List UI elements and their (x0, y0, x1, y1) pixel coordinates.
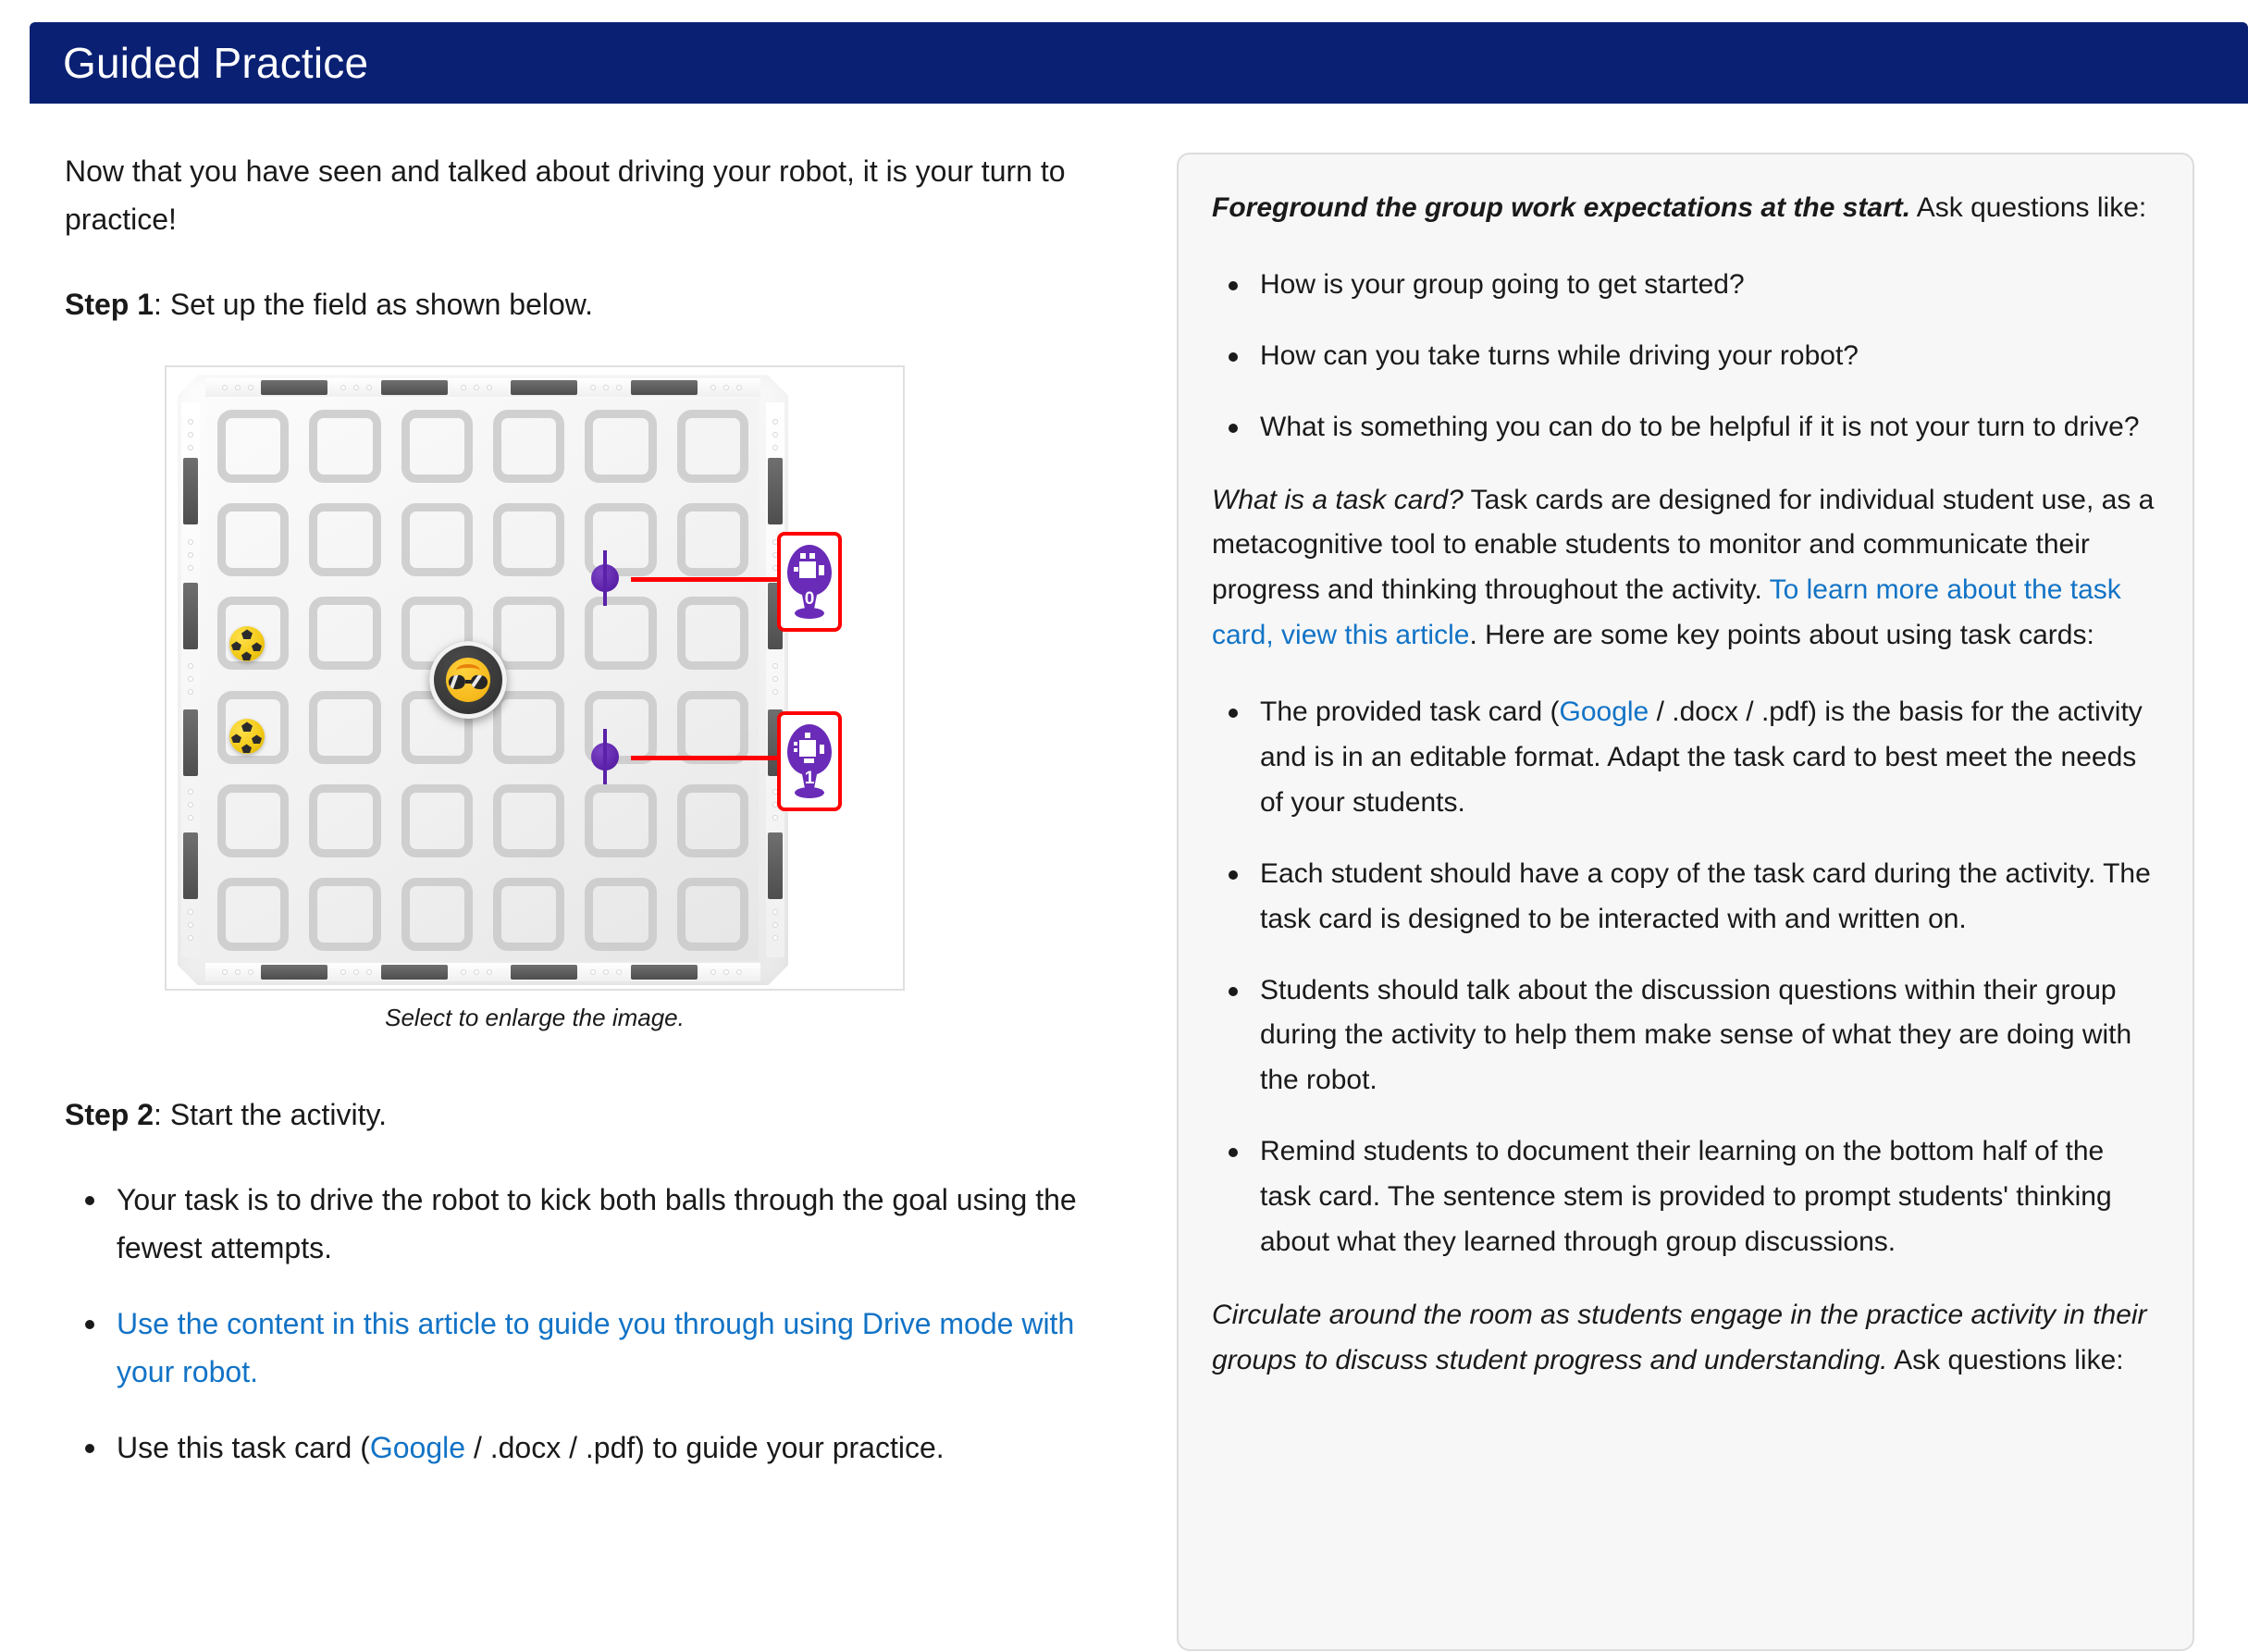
wall-hole (461, 969, 466, 975)
task-card-key-points-list: The provided task card (Google / .docx /… (1212, 690, 2155, 1265)
wall-segment (381, 380, 448, 395)
provided-task-card-google-link[interactable]: Google (1559, 697, 1649, 727)
list-item: What is something you can do to be helpf… (1260, 405, 2155, 450)
wall-hole (772, 445, 778, 450)
group-work-question-list: How is your group going to get started? … (1212, 263, 2155, 450)
wall-hole (710, 385, 716, 390)
wall-hole (188, 909, 193, 915)
wall-hole (188, 676, 193, 682)
field-tile (483, 399, 574, 492)
field-image-frame[interactable]: 0 (165, 365, 905, 991)
wall-hole (710, 969, 716, 975)
field-tile (299, 586, 390, 680)
field-tile (483, 868, 574, 961)
list-item: How can you take turns while driving you… (1260, 334, 2155, 379)
wall-hole (723, 969, 729, 975)
group-work-lead-rest: Ask questions like: (1910, 192, 2146, 223)
question-text: What is something you can do to be helpf… (1260, 412, 2140, 442)
goal-marker-1-label: 1 (785, 769, 834, 789)
step-2-label: Step 2 (65, 1098, 154, 1131)
wall-segment (261, 965, 327, 980)
wall-hole (188, 935, 193, 941)
group-work-lead-emphasis: Foreground the group work expectations a… (1212, 192, 1910, 223)
field-tile (667, 493, 759, 586)
intro-paragraph: Now that you have seen and talked about … (65, 148, 1119, 244)
list-item: Your task is to drive the robot to kick … (117, 1177, 1119, 1273)
list-item: Each student should have a copy of the t… (1260, 852, 2155, 943)
field-tile (574, 493, 666, 586)
wall-hole (353, 969, 359, 975)
list-item: Use the content in this article to guide… (117, 1301, 1119, 1397)
wall-hole (188, 552, 193, 558)
wall-hole (616, 385, 622, 390)
drive-mode-article-link[interactable]: Use the content in this article to guide… (117, 1307, 1074, 1388)
wall-hole (772, 815, 778, 820)
field-tile (299, 868, 390, 961)
task-card-question-emphasis: What is a task card? (1212, 485, 1464, 515)
wall-hole (772, 909, 778, 915)
wall-segment (183, 458, 198, 524)
wall-segment (511, 380, 577, 395)
goal-marker-1-callout: 1 (777, 711, 842, 811)
wall-hole (772, 676, 778, 682)
field-tile (574, 586, 666, 680)
wall-hole (736, 969, 742, 975)
bullet-text-pre: Use this task card ( (117, 1431, 370, 1464)
task-card-explainer-part2: . Here are some key points about using t… (1469, 620, 2094, 650)
callout-line-0 (631, 577, 779, 582)
field-figure: 0 (165, 365, 1119, 1032)
field-wall-left (181, 402, 200, 957)
callout-line-1 (631, 756, 779, 760)
figure-caption: Select to enlarge the image. (165, 1004, 905, 1032)
bullet-text: Your task is to drive the robot to kick … (117, 1183, 1077, 1264)
circulate-closing-paragraph: Circulate around the room as students en… (1212, 1293, 2155, 1384)
wall-segment (768, 458, 783, 524)
goal-marker-0-callout: 0 (777, 532, 842, 632)
step-2-text: : Start the activity. (154, 1098, 387, 1131)
apriltag-1-glyph (794, 733, 825, 762)
list-item: Students should talk about the discussio… (1260, 968, 2155, 1104)
teacher-tips-card: Foreground the group work expectations a… (1177, 153, 2194, 1651)
wall-hole (474, 385, 479, 390)
vex-field-diagram (178, 375, 788, 985)
question-text: How can you take turns while driving you… (1260, 340, 1859, 371)
apriltag-0-glyph (794, 553, 825, 583)
field-tile (667, 868, 759, 961)
field-tile (667, 399, 759, 492)
key-point-text-pre: The provided task card ( (1260, 697, 1559, 727)
field-tile (207, 868, 299, 961)
wall-segment (183, 832, 198, 899)
question-text: How is your group going to get started? (1260, 269, 1745, 300)
field-tile (391, 868, 483, 961)
field-tile (667, 774, 759, 868)
wall-hole (772, 935, 778, 941)
step-2-bullet-list: Your task is to drive the robot to kick … (65, 1177, 1119, 1472)
circulate-rest: Ask questions like: (1887, 1345, 2123, 1375)
list-item: Remind students to document their learni… (1260, 1129, 2155, 1265)
wall-hole (248, 385, 253, 390)
goal-pin-0-icon: 0 (785, 543, 834, 621)
field-wall-top (205, 378, 760, 397)
wall-hole (461, 385, 466, 390)
wall-segment (261, 380, 327, 395)
task-card-google-link[interactable]: Google (370, 1431, 465, 1464)
wall-hole (188, 815, 193, 820)
wall-segment (381, 965, 448, 980)
field-tile (207, 399, 299, 492)
list-item: The provided task card (Google / .docx /… (1260, 690, 2155, 826)
wall-hole (188, 663, 193, 669)
key-point-text: Each student should have a copy of the t… (1260, 858, 2151, 934)
wall-hole (235, 385, 241, 390)
wall-hole (366, 969, 372, 975)
field-tile (483, 774, 574, 868)
wall-hole (616, 969, 622, 975)
wall-hole (736, 385, 742, 390)
wall-hole (340, 969, 346, 975)
key-point-text: Students should talk about the discussio… (1260, 975, 2131, 1096)
step-2-heading: Step 2: Start the activity. (65, 1091, 1119, 1140)
robot-face-sunglasses-icon (446, 658, 490, 702)
wall-hole (590, 969, 596, 975)
wall-segment (631, 965, 698, 980)
left-content-column: Now that you have seen and talked about … (65, 148, 1119, 1503)
key-point-text: Remind students to document their learni… (1260, 1136, 2112, 1257)
wall-segment (183, 583, 198, 649)
wall-hole (353, 385, 359, 390)
step-1-label: Step 1 (65, 288, 154, 321)
field-tile (391, 493, 483, 586)
page-title: Guided Practice (30, 38, 368, 88)
field-tile (483, 493, 574, 586)
wall-hole (487, 969, 492, 975)
wall-hole (188, 789, 193, 795)
wall-hole (188, 445, 193, 450)
wall-segment (183, 709, 198, 776)
wall-hole (603, 969, 609, 975)
field-tile (299, 774, 390, 868)
wall-hole (772, 922, 778, 928)
wall-hole (772, 419, 778, 425)
field-wall-bottom (205, 963, 760, 981)
wall-hole (772, 663, 778, 669)
field-tile (667, 586, 759, 680)
list-item: Use this task card (Google / .docx / .pd… (117, 1424, 1119, 1473)
wall-hole (603, 385, 609, 390)
step-1-heading: Step 1: Set up the field as shown below. (65, 281, 1119, 329)
wall-hole (772, 432, 778, 438)
wall-hole (188, 539, 193, 545)
wall-hole (188, 565, 193, 571)
wall-hole (188, 802, 193, 808)
wall-segment (631, 380, 698, 395)
field-tile (391, 399, 483, 492)
goal-marker-0-label: 0 (785, 589, 834, 610)
field-tile (391, 774, 483, 868)
field-wall-right (766, 402, 784, 957)
wall-hole (188, 419, 193, 425)
wall-hole (772, 689, 778, 695)
wall-hole (188, 689, 193, 695)
wall-hole (222, 969, 228, 975)
wall-segment (511, 965, 577, 980)
field-tile (299, 493, 390, 586)
task-card-explainer-paragraph: What is a task card? Task cards are desi… (1212, 478, 2155, 660)
wall-segment (768, 832, 783, 899)
wall-hole (188, 922, 193, 928)
wall-hole (590, 385, 596, 390)
field-tile (574, 399, 666, 492)
bullet-text-post: / .docx / .pdf) to guide your practice. (465, 1431, 945, 1464)
field-tile (299, 399, 390, 492)
wall-hole (188, 432, 193, 438)
robot-icon (429, 641, 507, 719)
step-1-text: : Set up the field as shown below. (154, 288, 593, 321)
group-work-lead-paragraph: Foreground the group work expectations a… (1212, 186, 2155, 231)
wall-hole (723, 385, 729, 390)
field-tile (574, 774, 666, 868)
wall-hole (235, 969, 241, 975)
wall-hole (248, 969, 253, 975)
wall-hole (474, 969, 479, 975)
field-tile (299, 680, 390, 773)
wall-hole (340, 385, 346, 390)
field-tile (207, 774, 299, 868)
list-item: How is your group going to get started? (1260, 263, 2155, 308)
wall-hole (366, 385, 372, 390)
field-tile (207, 493, 299, 586)
section-header-bar: Guided Practice (30, 22, 2248, 104)
wall-hole (487, 385, 492, 390)
goal-pin-1-icon: 1 (785, 722, 834, 800)
field-tile (574, 868, 666, 961)
wall-hole (222, 385, 228, 390)
